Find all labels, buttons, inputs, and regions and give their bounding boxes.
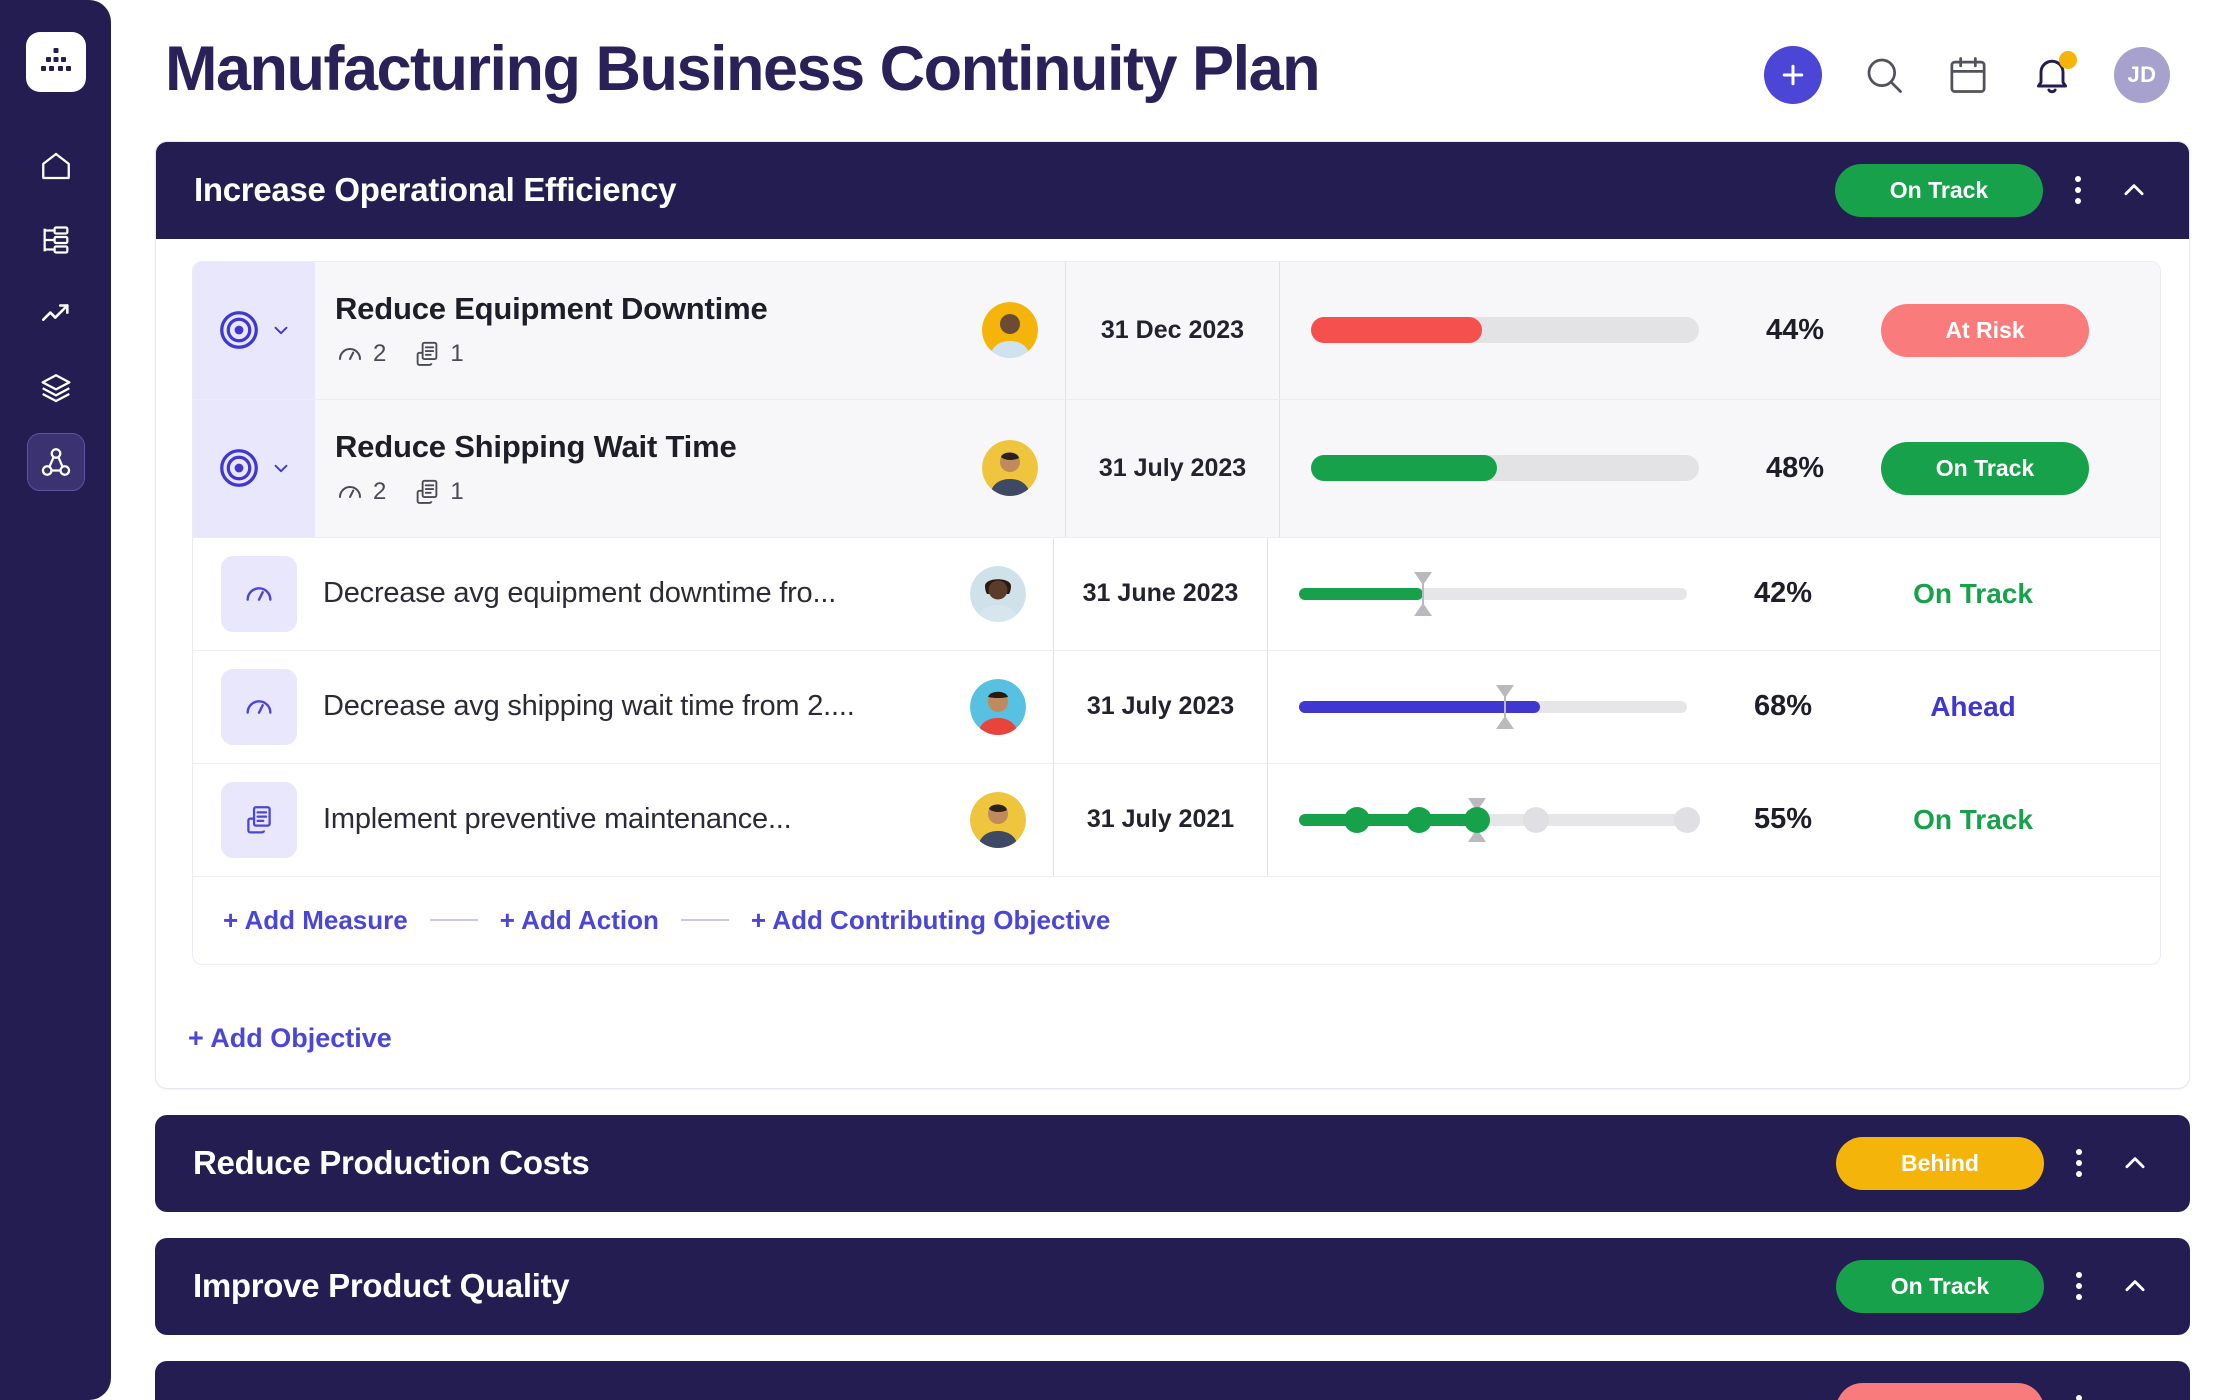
goal-header-partial[interactable]: At Risk (155, 1361, 2190, 1400)
node-network-icon (39, 445, 73, 479)
goal-status-badge[interactable]: Behind (1836, 1137, 2044, 1190)
action-status-text: On Track (1913, 804, 2033, 836)
header-actions: JD (1764, 30, 2190, 104)
search-icon (1862, 53, 1906, 97)
objective-name: Reduce Shipping Wait Time (335, 429, 955, 465)
owner-avatar-cell[interactable] (943, 792, 1053, 848)
chevron-down-icon[interactable] (270, 457, 292, 479)
user-avatar[interactable]: JD (2114, 47, 2170, 103)
measure-slider-track[interactable] (1299, 701, 1687, 713)
app-root: Manufacturing Business Continuity Plan (0, 0, 2230, 1400)
document-stack-icon (412, 339, 442, 369)
measure-percent: 42% (1718, 577, 1848, 610)
trending-up-icon (39, 297, 73, 331)
sidebar-item-plans[interactable] (28, 212, 84, 268)
measure-status-text: On Track (1913, 578, 2033, 610)
action-body: Implement preventive maintenance... 31 J… (307, 764, 2160, 876)
sidebar-item-home[interactable] (28, 138, 84, 194)
top-bar: Manufacturing Business Continuity Plan (155, 0, 2190, 109)
document-stack-icon (242, 803, 276, 837)
goal-header-controls: On Track (1835, 164, 2155, 217)
measure-body: Decrease avg equipment downtime fro... 3… (307, 538, 2160, 650)
measure-icon-cell (221, 669, 297, 745)
progress-bar-fill (1311, 455, 1497, 481)
measure-icon-cell (221, 556, 297, 632)
list-tree-icon (39, 223, 73, 257)
objective-percent: 48% (1730, 452, 1860, 485)
objective-status-cell: On Track (1860, 442, 2110, 495)
measure-name: Decrease avg equipment downtime fro... (323, 577, 943, 610)
goal-more-menu-icon[interactable] (2070, 1389, 2088, 1400)
objectives-panel: Reduce Equipment Downtime 2 (192, 261, 2161, 965)
app-logo[interactable] (26, 32, 86, 92)
objective-due-date: 31 July 2023 (1065, 400, 1280, 537)
goal-title: Improve Product Quality (193, 1267, 569, 1305)
measure-due-date: 31 July 2023 (1053, 651, 1268, 763)
measure-slider-fill (1299, 588, 1423, 600)
objective-status-badge[interactable]: On Track (1881, 442, 2089, 495)
add-objective-row: + Add Objective (156, 993, 2189, 1088)
measures-count: 2 (373, 340, 386, 368)
owner-avatar-cell[interactable] (955, 302, 1065, 358)
measure-due-date: 31 June 2023 (1053, 538, 1268, 650)
goal-more-menu-icon[interactable] (2070, 1266, 2088, 1306)
goal-collapse-toggle[interactable] (2113, 169, 2155, 211)
sidebar (0, 0, 111, 1400)
measure-progress-cell (1268, 701, 1718, 713)
layers-icon (39, 371, 73, 405)
actions-count-chip: 1 (412, 339, 463, 369)
avatar (970, 792, 1026, 848)
measure-name: Decrease avg shipping wait time from 2..… (323, 690, 943, 723)
home-icon (39, 149, 73, 183)
objective-due-date: 31 Dec 2023 (1065, 262, 1280, 399)
target-icon (216, 307, 262, 353)
measure-percent: 68% (1718, 690, 1848, 723)
objective-progress-cell (1280, 455, 1730, 481)
milestone-dot[interactable] (1344, 807, 1370, 833)
milestone-dot[interactable] (1523, 807, 1549, 833)
add-measure-link[interactable]: + Add Measure (223, 905, 408, 936)
link-divider (681, 919, 729, 921)
main-content: Manufacturing Business Continuity Plan (111, 0, 2230, 1400)
objective-meta: 2 1 (335, 339, 955, 369)
chevron-up-icon (2120, 1148, 2150, 1178)
action-status-cell: On Track (1848, 804, 2098, 836)
goal-title: Increase Operational Efficiency (194, 171, 676, 209)
measure-status-text: Ahead (1930, 691, 2016, 723)
progress-bar-fill (1311, 317, 1482, 343)
action-icon-cell (221, 782, 297, 858)
actions-count-chip: 1 (412, 477, 463, 507)
measure-row[interactable]: Decrease avg equipment downtime fro... 3… (193, 538, 2160, 651)
owner-avatar-cell[interactable] (955, 440, 1065, 496)
goal-more-menu-icon[interactable] (2070, 1143, 2088, 1183)
document-stack-icon (412, 477, 442, 507)
objective-meta: 2 1 (335, 477, 955, 507)
action-name: Implement preventive maintenance... (323, 803, 943, 836)
actions-count: 1 (450, 340, 463, 368)
milestone-slider-track[interactable] (1299, 814, 1687, 826)
avatar (970, 566, 1026, 622)
add-objective-link[interactable]: + Add Objective (188, 1023, 392, 1054)
sidebar-item-reports[interactable] (28, 286, 84, 342)
milestone-slider-fill (1299, 814, 1477, 826)
progress-bar-track[interactable] (1311, 455, 1699, 481)
measure-progress-cell (1268, 588, 1718, 600)
action-percent: 55% (1718, 803, 1848, 836)
action-row[interactable]: Implement preventive maintenance... 31 J… (193, 764, 2160, 877)
objective-icon-cell[interactable] (193, 400, 315, 537)
chevron-up-icon (2120, 1271, 2150, 1301)
objective-icon-cell[interactable] (193, 262, 315, 399)
owner-avatar-cell[interactable] (943, 566, 1053, 622)
measure-body: Decrease avg shipping wait time from 2..… (307, 651, 2160, 763)
goal-header-controls: Behind (1836, 1137, 2156, 1190)
add-links-row: + Add Measure + Add Action + Add Contrib… (193, 877, 2160, 964)
goal-header-controls: On Track (1836, 1260, 2156, 1313)
goal-header-improve-product-quality[interactable]: Improve Product Quality On Track (155, 1238, 2190, 1335)
objective-status-badge[interactable]: At Risk (1881, 304, 2089, 357)
calendar-button[interactable] (1946, 53, 1990, 97)
objective-row[interactable]: Reduce Shipping Wait Time 2 (193, 400, 2160, 538)
action-progress-cell (1268, 814, 1718, 826)
owner-avatar-cell[interactable] (943, 679, 1053, 735)
goal-header-controls: At Risk (1836, 1383, 2156, 1400)
chevron-up-icon (2119, 175, 2149, 205)
gauge-icon (242, 690, 276, 724)
chevron-up-icon (2120, 1394, 2150, 1400)
avatar (982, 440, 1038, 496)
goal-more-menu-icon[interactable] (2069, 170, 2087, 210)
goal-status-badge[interactable]: At Risk (1836, 1383, 2044, 1400)
goal-collapse-toggle[interactable] (2114, 1265, 2156, 1307)
gauge-icon (335, 339, 365, 369)
page-title: Manufacturing Business Continuity Plan (155, 30, 1319, 109)
objective-text-column: Reduce Equipment Downtime 2 (335, 291, 955, 369)
target-icon (216, 445, 262, 491)
sidebar-item-layers[interactable] (28, 360, 84, 416)
milestone-dot[interactable] (1464, 807, 1490, 833)
gauge-icon (335, 477, 365, 507)
notification-badge-dot (2059, 51, 2077, 69)
measures-count-chip: 2 (335, 477, 386, 507)
goal-collapse-toggle[interactable] (2114, 1142, 2156, 1184)
avatar (970, 679, 1026, 735)
goal-card-increase-operational-efficiency: Increase Operational Efficiency On Track (155, 141, 2190, 1089)
actions-count: 1 (450, 478, 463, 506)
measures-count-chip: 2 (335, 339, 386, 369)
link-divider (430, 919, 478, 921)
add-button[interactable] (1764, 46, 1822, 104)
goal-collapse-toggle[interactable] (2114, 1388, 2156, 1400)
add-action-link[interactable]: + Add Action (500, 905, 659, 936)
objective-percent: 44% (1730, 314, 1860, 347)
objective-name: Reduce Equipment Downtime (335, 291, 955, 327)
measure-status-cell: On Track (1848, 578, 2098, 610)
milestone-dot[interactable] (1406, 807, 1432, 833)
plus-icon (1778, 60, 1808, 90)
objective-row[interactable]: Reduce Equipment Downtime 2 (193, 262, 2160, 400)
avatar (982, 302, 1038, 358)
measures-count: 2 (373, 478, 386, 506)
milestone-dot[interactable] (1674, 807, 1700, 833)
objective-status-cell: At Risk (1860, 304, 2110, 357)
add-contributing-objective-link[interactable]: + Add Contributing Objective (751, 905, 1110, 936)
calendar-icon (1946, 53, 1990, 97)
objective-progress-cell (1280, 317, 1730, 343)
objective-text-column: Reduce Shipping Wait Time 2 (335, 429, 955, 507)
goal-header-reduce-production-costs[interactable]: Reduce Production Costs Behind (155, 1115, 2190, 1212)
sidebar-item-strategy-map[interactable] (28, 434, 84, 490)
org-chart-logo-icon (39, 45, 73, 79)
gauge-icon (242, 577, 276, 611)
progress-bar-track[interactable] (1311, 317, 1699, 343)
measure-slider-track[interactable] (1299, 588, 1687, 600)
goal-status-badge[interactable]: On Track (1836, 1260, 2044, 1313)
objective-body: Reduce Shipping Wait Time 2 (315, 400, 2160, 537)
chevron-down-icon[interactable] (270, 319, 292, 341)
action-due-date: 31 July 2021 (1053, 764, 1268, 876)
goal-title: Reduce Production Costs (193, 1144, 589, 1182)
goal-status-badge[interactable]: On Track (1835, 164, 2043, 217)
goal-header[interactable]: Increase Operational Efficiency On Track (156, 142, 2189, 239)
objective-body: Reduce Equipment Downtime 2 (315, 262, 2160, 399)
measure-row[interactable]: Decrease avg shipping wait time from 2..… (193, 651, 2160, 764)
notifications-button[interactable] (2030, 53, 2074, 97)
measure-status-cell: Ahead (1848, 691, 2098, 723)
search-button[interactable] (1862, 53, 1906, 97)
